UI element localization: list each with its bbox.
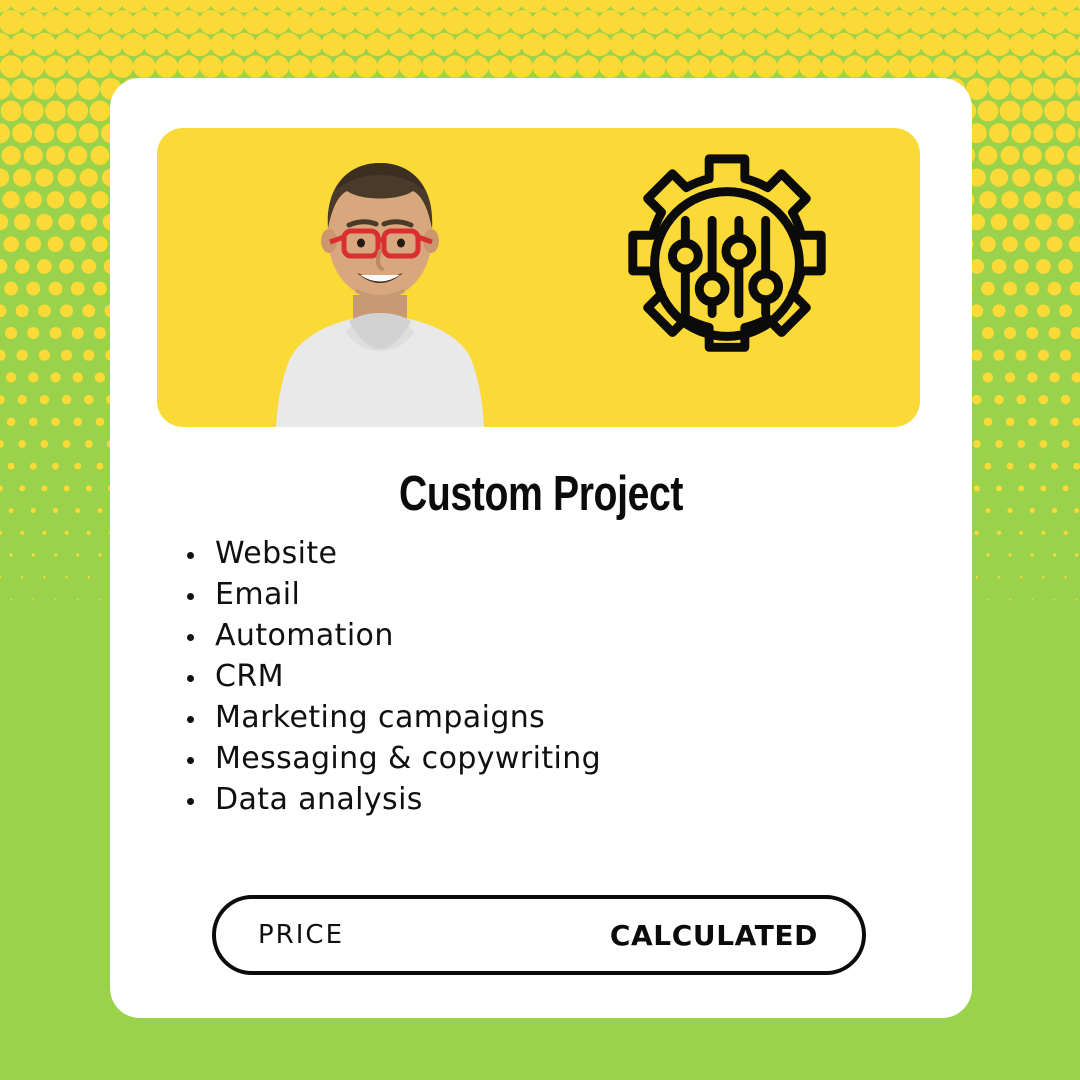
list-item: Data analysis [178,779,858,820]
price-value: CALCULATED [610,919,818,952]
list-item: Website [178,533,858,574]
settings-sliders-gear-icon [608,145,846,383]
person-photo [245,145,515,427]
list-item: Email [178,574,858,615]
list-item: Automation [178,615,858,656]
pricing-card: Custom Project Website Email Automation … [110,78,972,1018]
list-item: Marketing campaigns [178,697,858,738]
price-row[interactable]: PRICE CALCULATED [212,895,866,975]
list-item: CRM [178,656,858,697]
price-label: PRICE [258,920,344,950]
card-banner [157,128,920,427]
list-item: Messaging & copywriting [178,738,858,779]
page-title: Custom Project [196,466,886,522]
feature-list: Website Email Automation CRM Marketing c… [178,533,858,820]
